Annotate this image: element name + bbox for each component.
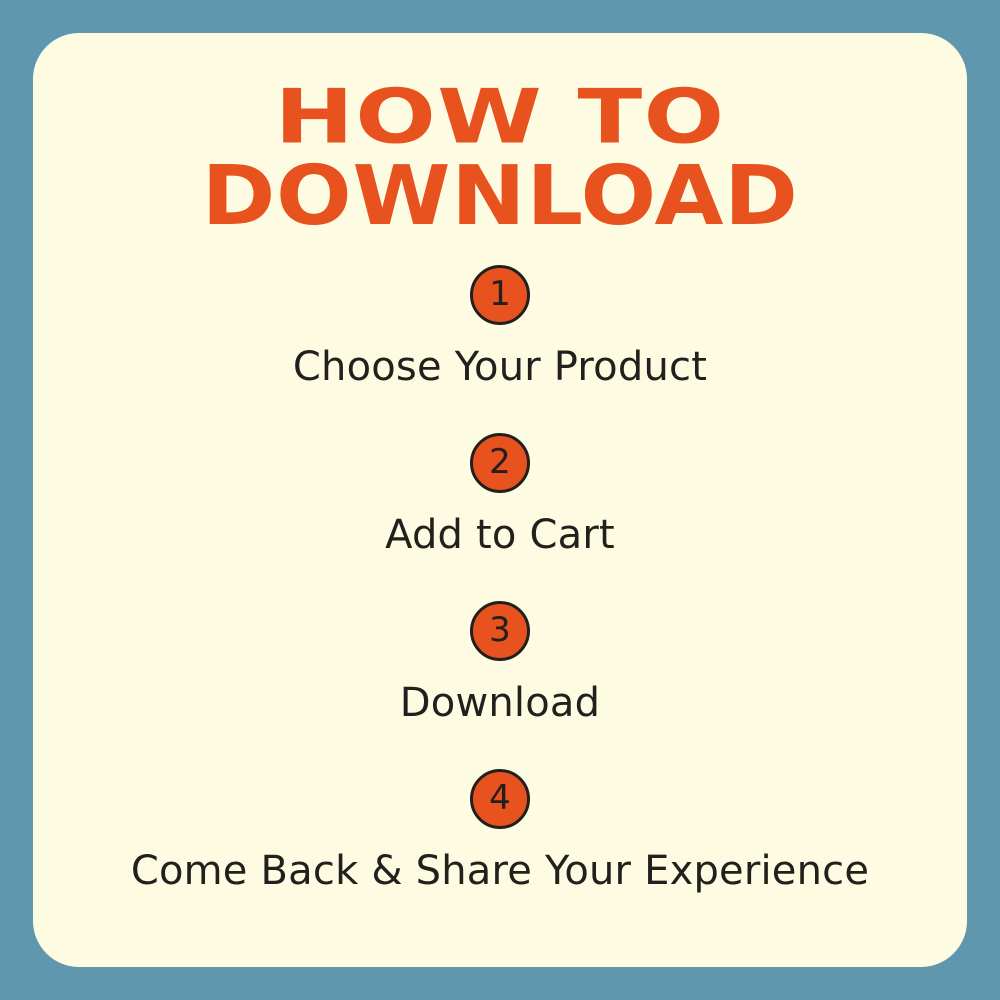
title-line-how-to: HOW TO bbox=[33, 80, 967, 154]
step-number-3: 3 bbox=[489, 613, 511, 647]
step-number-4: 4 bbox=[489, 781, 511, 815]
step-badge-4: 4 bbox=[470, 769, 530, 829]
steps-list: 1 Choose Your Product 2 Add to Cart 3 Do… bbox=[33, 265, 967, 937]
title-line-download: DOWNLOAD bbox=[33, 156, 967, 238]
step-badge-1: 1 bbox=[470, 265, 530, 325]
instruction-card: HOW TO DOWNLOAD 1 Choose Your Product 2 … bbox=[33, 33, 967, 967]
step-label-4: Come Back & Share Your Experience bbox=[33, 850, 967, 892]
step-label-1: Choose Your Product bbox=[33, 346, 967, 388]
step-item-4: 4 Come Back & Share Your Experience bbox=[33, 769, 967, 937]
step-number-2: 2 bbox=[489, 445, 511, 479]
step-number-1: 1 bbox=[489, 277, 511, 311]
step-badge-3: 3 bbox=[470, 601, 530, 661]
step-label-3: Download bbox=[33, 682, 967, 724]
step-label-2: Add to Cart bbox=[33, 514, 967, 556]
step-item-2: 2 Add to Cart bbox=[33, 433, 967, 601]
poster-canvas: HOW TO DOWNLOAD 1 Choose Your Product 2 … bbox=[0, 0, 1000, 1000]
step-badge-2: 2 bbox=[470, 433, 530, 493]
step-item-1: 1 Choose Your Product bbox=[33, 265, 967, 433]
step-item-3: 3 Download bbox=[33, 601, 967, 769]
page-title: HOW TO DOWNLOAD bbox=[33, 81, 967, 233]
